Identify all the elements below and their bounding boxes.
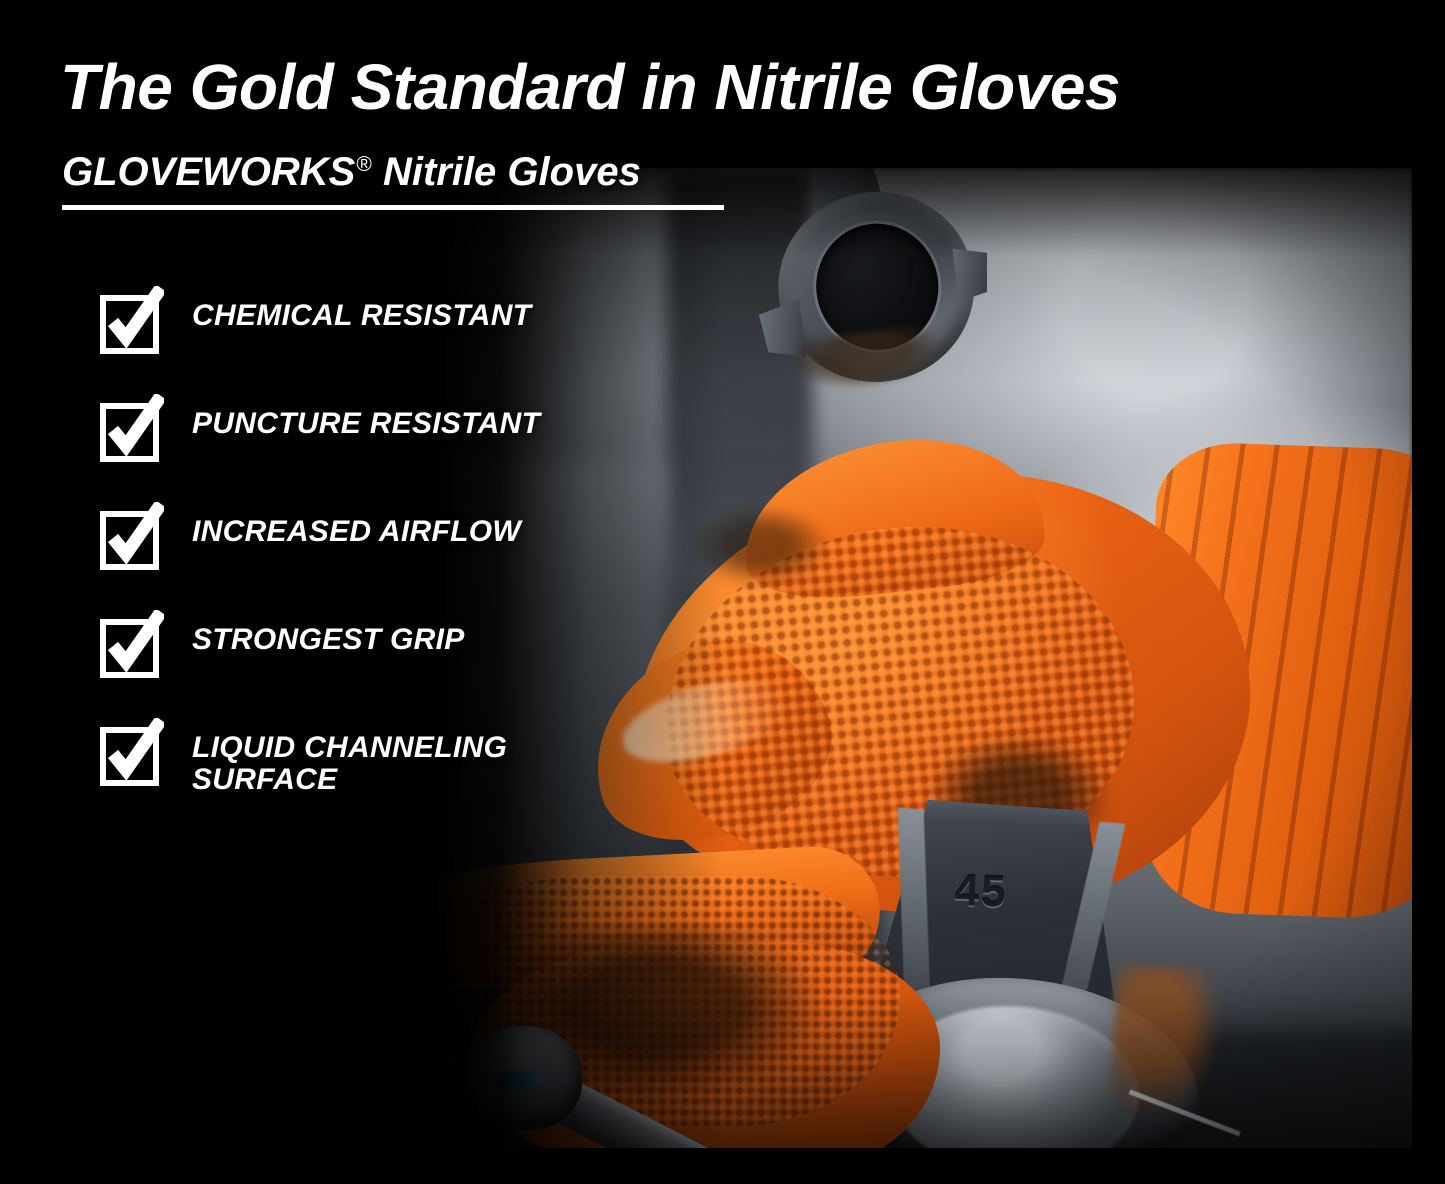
list-item: STRONGEST GRIP (100, 610, 660, 678)
checkbox-checked-icon (100, 718, 164, 786)
rod-rust-patch (1107, 963, 1221, 1120)
page-title: The Gold Standard in Nitrile Gloves (60, 55, 1390, 120)
list-item: PUNCTURE RESISTANT (100, 394, 660, 462)
brand-subtitle-block: GLOVEWORKS® Nitrile Gloves (62, 150, 727, 210)
feature-label: INCREASED AIRFLOW (192, 502, 521, 548)
rod-part-number: 45 (954, 869, 1008, 915)
glove-dirt-stain (690, 506, 830, 586)
connecting-rod-small-end (746, 168, 1004, 420)
list-item: INCREASED AIRFLOW (100, 502, 660, 570)
checkbox-checked-icon (100, 610, 164, 678)
rod-lug-right (952, 244, 992, 302)
feature-list: CHEMICAL RESISTANT PUNCTURE RESISTANT IN… (100, 286, 660, 796)
brand-name: GLOVEWORKS (62, 150, 355, 194)
list-item: LIQUID CHANNELING SURFACE (100, 718, 660, 796)
checkbox-checked-icon (100, 286, 164, 354)
checkbox-checked-icon (100, 502, 164, 570)
feature-label: CHEMICAL RESISTANT (192, 286, 531, 332)
feature-label: LIQUID CHANNELING SURFACE (192, 718, 507, 796)
subtitle-underline (62, 205, 724, 210)
checkbox-checked-icon (100, 394, 164, 462)
feature-label: STRONGEST GRIP (192, 610, 465, 656)
hammer-peen-head (464, 1026, 582, 1130)
feature-label: PUNCTURE RESISTANT (192, 394, 540, 440)
advertisement-banner: 45 The Gold Standard in Nitrile Gloves G… (0, 0, 1445, 1184)
list-item: CHEMICAL RESISTANT (100, 286, 660, 354)
brand-subtitle-suffix: Nitrile Gloves (372, 150, 641, 194)
ball-peen-hammer (460, 1018, 820, 1148)
brand-subtitle: GLOVEWORKS® Nitrile Gloves (62, 150, 727, 194)
registered-trademark-icon: ® (356, 153, 371, 176)
